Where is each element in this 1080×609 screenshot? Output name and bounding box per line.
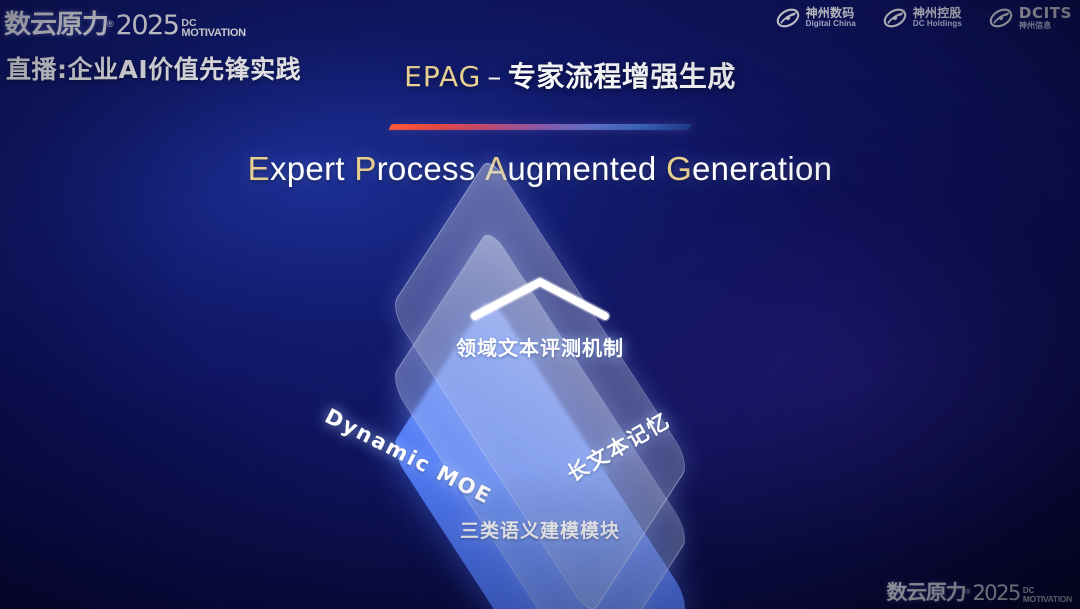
page-subtitle-expanded: Expert Process Augmented Generation <box>0 150 1080 188</box>
partner-name-en: 神州信息 <box>1019 22 1072 31</box>
partner-logo-group: 神州数码 Digital China 神州控股 DC Holdings <box>775 5 1072 31</box>
subtitle-rest-process: rocess <box>377 150 476 187</box>
partner-logo-dc-holdings: 神州控股 DC Holdings <box>882 5 962 31</box>
footer-motivation: MOTIVATION <box>1023 595 1072 604</box>
gradient-divider <box>388 124 691 130</box>
swoosh-icon <box>775 5 801 31</box>
footer-watermark-logo: 数云原力® 2025 DC MOTIVATION <box>888 576 1072 605</box>
brand-name-cn: 数云原力 <box>4 4 108 41</box>
footer-dc-motivation: DC MOTIVATION <box>1023 587 1072 604</box>
subtitle-cap-p: P <box>354 150 376 187</box>
page-title: EPAG–专家流程增强生成 <box>0 55 1080 95</box>
footer-brand-year: 2025 <box>972 581 1019 605</box>
footer-registered-mark: ® <box>965 589 970 596</box>
brand-motivation: MOTIVATION <box>181 28 245 39</box>
brand-logo: 数云原力® 2025 DC MOTIVATION <box>6 4 246 41</box>
swoosh-icon <box>882 5 908 31</box>
partner-name-cn: DCITS <box>1019 5 1072 22</box>
title-subtitle-cn: 专家流程增强生成 <box>508 60 736 93</box>
partner-name-cn: 神州数码 <box>806 7 856 20</box>
layer-stack-diagram: 领域文本评测机制 Dynamic MOE 长文本记忆 三类语义建模模块 <box>280 228 800 588</box>
subtitle-rest-augmented: ugmented <box>507 150 656 187</box>
partner-name-en: Digital China <box>806 20 856 29</box>
subtitle-rest-generation: eneration <box>692 150 832 187</box>
subtitle-cap-e: E <box>248 150 270 187</box>
partner-name-en: DC Holdings <box>913 20 962 29</box>
title-separator: – <box>487 60 502 93</box>
swoosh-icon <box>988 5 1014 31</box>
partner-name-cn: 神州控股 <box>913 7 962 20</box>
subtitle-rest-expert: xpert <box>270 150 345 187</box>
partner-logo-dcits: DCITS 神州信息 <box>988 5 1072 31</box>
brand-year: 2025 <box>116 10 179 41</box>
partner-label: 神州数码 Digital China <box>806 7 856 29</box>
partner-label: 神州控股 DC Holdings <box>913 7 962 29</box>
brand-dc-motivation: DC MOTIVATION <box>181 18 245 40</box>
title-acronym: EPAG <box>404 60 481 93</box>
partner-logo-digital-china: 神州数码 Digital China <box>775 5 856 31</box>
slide-canvas: 数云原力® 2025 DC MOTIVATION 直播:企业AI价值先锋实践 神… <box>0 0 1080 609</box>
registered-mark: ® <box>107 19 114 29</box>
footer-brand-name-cn: 数云原力 <box>887 576 966 605</box>
subtitle-cap-g: G <box>666 150 692 187</box>
partner-label: DCITS 神州信息 <box>1019 5 1072 31</box>
